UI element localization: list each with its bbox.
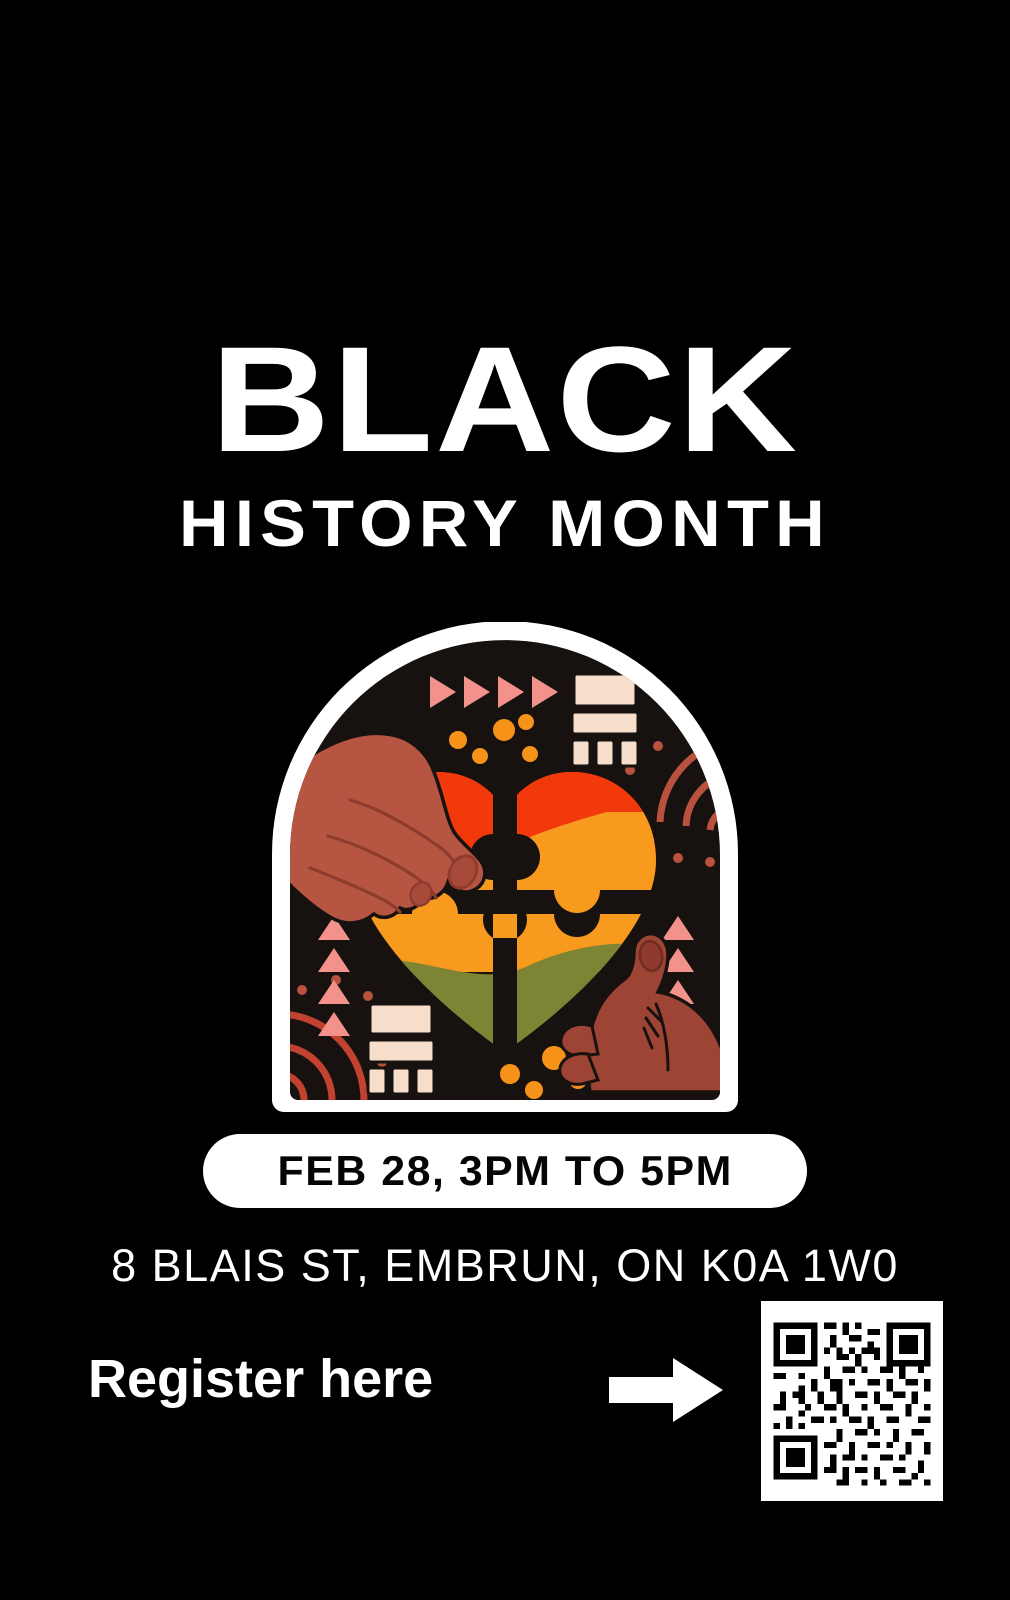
brick-blocks-top-right [572, 674, 638, 766]
page-title: BLACK [0, 330, 1010, 468]
illustration-badge [258, 622, 752, 1114]
brick-blocks-bottom-left [368, 1004, 434, 1094]
date-pill: FEB 28, 3PM TO 5PM [203, 1134, 807, 1208]
register-label: Register here [88, 1348, 433, 1410]
arch-badge-svg [258, 622, 752, 1114]
qr-code-icon[interactable] [761, 1301, 943, 1501]
badge-panel [258, 622, 752, 1114]
address-line: 8 BLAIS ST, EMBRUN, ON K0A 1W0 [0, 1240, 1010, 1292]
page-subtitle: HISTORY MONTH [0, 490, 1010, 556]
arrow-right-icon [609, 1356, 723, 1424]
poster-root: BLACK HISTORY MONTH [0, 0, 1010, 1600]
title-block: BLACK HISTORY MONTH [0, 330, 1010, 556]
date-text: FEB 28, 3PM TO 5PM [277, 1147, 732, 1195]
